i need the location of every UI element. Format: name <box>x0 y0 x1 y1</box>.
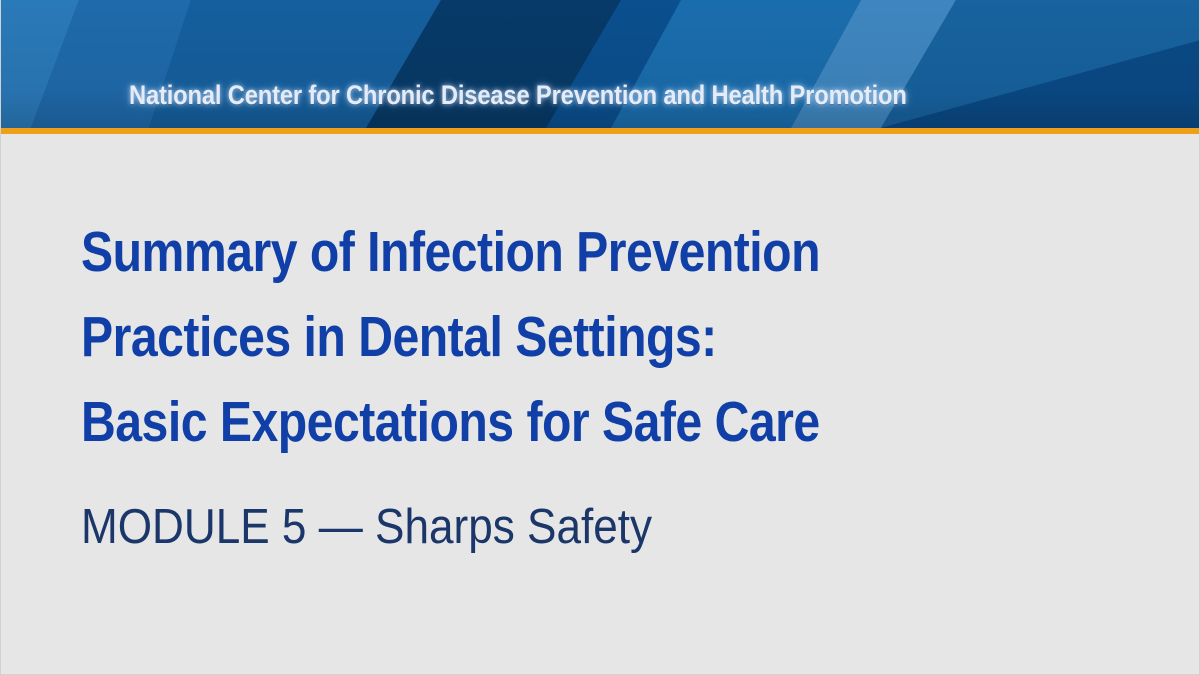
title-line-2: Practices in Dental Settings: <box>81 295 977 380</box>
organization-title: National Center for Chronic Disease Prev… <box>129 78 907 112</box>
title-line-3: Basic Expectations for Safe Care <box>81 380 977 465</box>
title-line-1: Summary of Infection Prevention <box>81 210 977 295</box>
slide-subtitle: MODULE 5 — Sharps Safety <box>81 497 652 557</box>
slide-canvas: National Center for Chronic Disease Prev… <box>0 0 1200 675</box>
header-banner: National Center for Chronic Disease Prev… <box>1 0 1200 128</box>
slide-body: Summary of Infection Prevention Practice… <box>1 134 1200 675</box>
slide-title: Summary of Infection Prevention Practice… <box>81 210 1141 465</box>
